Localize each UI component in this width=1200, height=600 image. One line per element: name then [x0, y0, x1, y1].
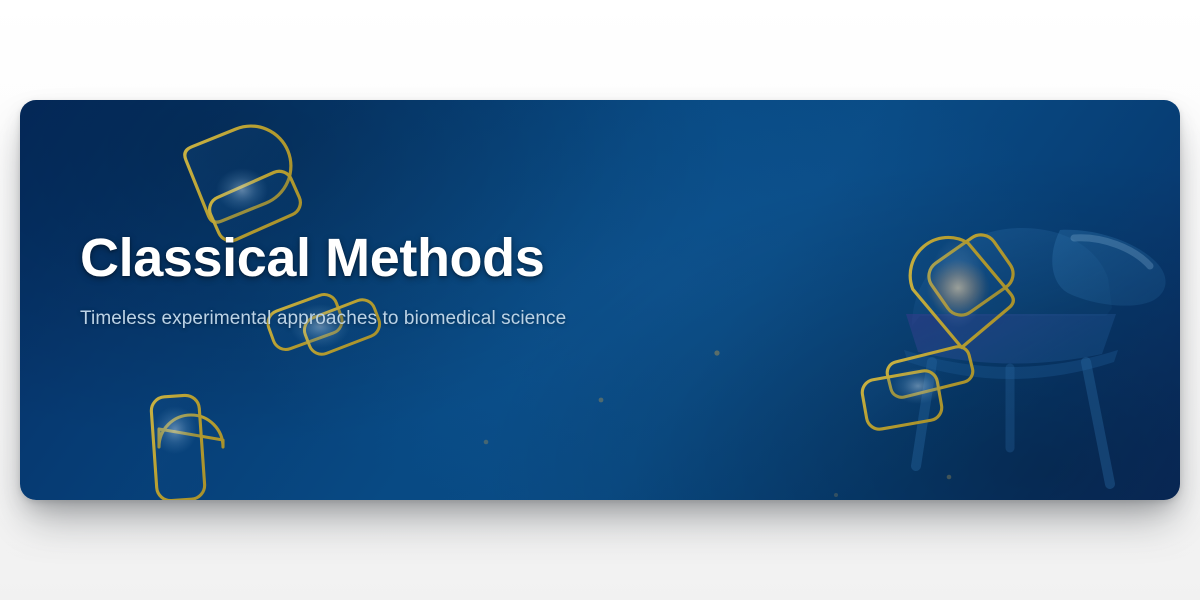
page-subtitle: Timeless experimental approaches to biom…: [80, 308, 566, 330]
background-illustration-shape: [904, 228, 1166, 484]
decor-particles: [484, 350, 952, 497]
hero-banner-card: Classical Methods Timeless experimental …: [20, 100, 1180, 500]
decor-shape-group-bottom-left: [150, 394, 224, 500]
decor-shape-group-right-lower: [860, 344, 975, 431]
hero-text-block: Classical Methods Timeless experimental …: [80, 230, 566, 330]
page-title: Classical Methods: [80, 230, 566, 287]
decor-shape-group-right-overlay: [896, 223, 1019, 347]
decor-shape-group-top-left: [182, 114, 304, 245]
